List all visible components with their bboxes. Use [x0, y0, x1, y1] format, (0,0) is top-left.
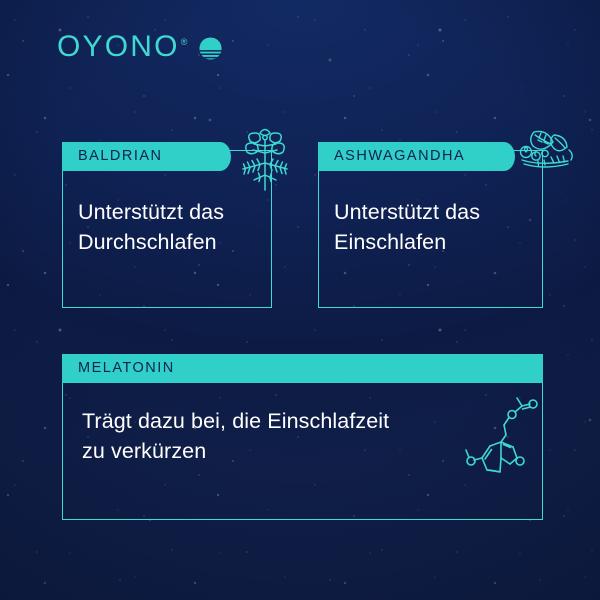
card-header-band-melatonin: MELATONIN: [62, 354, 543, 383]
card-header-band-baldrian: BALDRIAN: [62, 142, 220, 171]
valerian-plant-icon: [234, 122, 296, 192]
band-notch-shape: [493, 142, 515, 171]
card-header-band-ashwagandha: ASHWAGANDHA: [318, 142, 504, 171]
card-header-label: ASHWAGANDHA: [334, 149, 465, 164]
ingredient-card-baldrian: BALDRIAN Unterstützt das Durchschlafen: [62, 150, 272, 308]
infographic-canvas: OYONO® BALDRIAN Unterstützt das Durchsch…: [0, 0, 600, 600]
ingredient-card-melatonin: MELATONIN Trägt dazu bei, die Einschlafz…: [62, 362, 543, 520]
ashwagandha-root-icon: [514, 126, 576, 182]
brand-name-text: OYONO: [57, 30, 180, 63]
card-body-text: Unterstützt das Einschlafen: [334, 198, 480, 257]
melatonin-molecule-icon: [460, 392, 538, 492]
band-notch-shape: [209, 142, 231, 171]
brand-wordmark: OYONO®: [57, 32, 187, 62]
setting-sun-icon: [198, 36, 223, 61]
brand-logo: OYONO®: [57, 32, 223, 62]
registered-trademark-symbol: ®: [181, 37, 188, 47]
card-header-label: MELATONIN: [78, 361, 175, 376]
card-header-label: BALDRIAN: [78, 149, 163, 164]
card-body-text: Trägt dazu bei, die Einschlafzeit zu ver…: [82, 407, 389, 466]
card-body-text: Unterstützt das Durchschlafen: [78, 198, 224, 257]
ingredient-card-ashwagandha: ASHWAGANDHA Unterstützt das Einschlafen: [318, 150, 543, 308]
